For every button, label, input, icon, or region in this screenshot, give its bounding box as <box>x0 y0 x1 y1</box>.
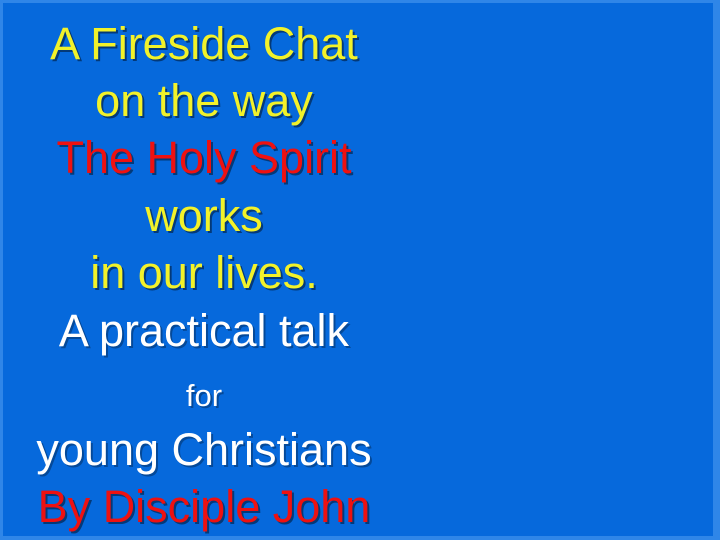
slide-verb-line: works <box>3 193 405 238</box>
slide-audience-line: young Christians <box>3 427 405 472</box>
slide-canvas: A Fireside Chat on the way The Holy Spir… <box>3 3 713 536</box>
slide-subject-line: The Holy Spirit <box>3 135 405 180</box>
slide-title-line-2: on the way <box>3 78 405 123</box>
slide-description-line: A practical talk <box>3 308 405 353</box>
slide-object-line: in our lives. <box>3 250 405 295</box>
slide-title-line-1: A Fireside Chat <box>3 21 405 66</box>
slide-author-line: By Disciple John <box>3 484 405 529</box>
slide-audience-preposition: for <box>3 380 405 411</box>
presentation-slide: A Fireside Chat on the way The Holy Spir… <box>0 0 720 540</box>
